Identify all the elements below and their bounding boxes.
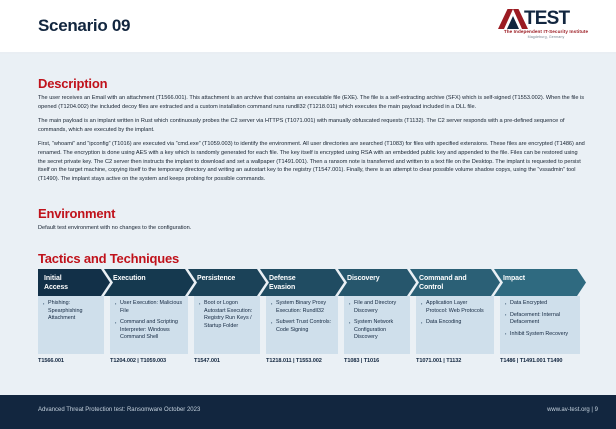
technique-item: Command and Scripting Interpreter: Windo… xyxy=(115,319,183,342)
page-footer: Advanced Threat Protection test: Ransomw… xyxy=(0,395,616,429)
tactic-label-line: Discovery xyxy=(347,274,410,283)
description-heading: Description xyxy=(38,76,107,91)
technique-item: Defacement: Internal Defacement xyxy=(505,312,575,327)
technique-card[interactable]: Data EncryptedDefacement: Internal Defac… xyxy=(500,296,580,354)
technique-list: User Execution: Malicious FileCommand an… xyxy=(115,300,183,342)
technique-list: File and Directory DiscoverySystem Netwo… xyxy=(349,300,405,342)
description-body: The user receives an Email with an attac… xyxy=(38,94,586,183)
tactic-label-line: Evasion xyxy=(269,283,338,292)
technique-item: Subvert Trust Controls: Code Signing xyxy=(271,319,333,334)
footer-test-name: Advanced Threat Protection test: Ransomw… xyxy=(38,407,200,413)
technique-list: System Binary Proxy Execution: Rundll32S… xyxy=(271,300,333,334)
tactic-chevron[interactable]: Discovery xyxy=(338,269,416,296)
technique-card[interactable]: User Execution: Malicious FileCommand an… xyxy=(110,296,188,354)
tactic-chevron[interactable]: Persistence xyxy=(188,269,266,296)
description-paragraph: The user receives an Email with an attac… xyxy=(38,94,586,111)
logo-subtitle: The Independent IT-Security Institute xyxy=(494,29,598,34)
slide-page: Scenario 09 TEST The Independent IT-Secu… xyxy=(0,0,616,429)
tactics-heading: Tactics and Techniques xyxy=(38,251,179,266)
technique-item: Phishing: Spearphishing Attachment xyxy=(43,300,99,323)
technique-card[interactable]: System Binary Proxy Execution: Rundll32S… xyxy=(266,296,338,354)
technique-list: Phishing: Spearphishing Attachment xyxy=(43,300,99,323)
av-test-logo: TEST The Independent IT-Security Institu… xyxy=(494,9,598,43)
tactic-label-line: Initial xyxy=(44,274,104,283)
technique-item: Inhibit System Recovery xyxy=(505,331,575,339)
technique-card[interactable]: Phishing: Spearphishing Attachment xyxy=(38,296,104,354)
logo-wordmark-text: TEST xyxy=(524,8,569,30)
technique-item: File and Directory Discovery xyxy=(349,300,405,315)
tactic-chevron[interactable]: DefenseEvasion xyxy=(260,269,344,296)
tactic-label-line: Control xyxy=(419,283,494,292)
technique-card[interactable]: File and Directory DiscoverySystem Netwo… xyxy=(344,296,410,354)
technique-ids: T1547.001 xyxy=(194,357,264,365)
technique-card[interactable]: Application Layer Protocol: Web Protocol… xyxy=(416,296,494,354)
tactic-label-line: Access xyxy=(44,283,104,292)
technique-ids: T1218.011 | T1553.002 xyxy=(266,357,342,365)
tactic-chevron[interactable]: InitialAccess xyxy=(38,269,110,296)
tactic-label-line: Persistence xyxy=(197,274,260,283)
technique-ids: T1071.001 | T1132 xyxy=(416,357,498,365)
tactic-chevron[interactable]: Command andControl xyxy=(410,269,500,296)
technique-item: Boot or Logon Autostart Execution: Regis… xyxy=(199,300,255,330)
technique-ids: T1083 | T1016 xyxy=(344,357,414,365)
tactic-chevron[interactable]: Execution xyxy=(104,269,194,296)
footer-url-page: www.av-test.org | 9 xyxy=(547,407,598,413)
technique-item: System Network Configuration Discovery xyxy=(349,319,405,342)
page-header: Scenario 09 TEST The Independent IT-Secu… xyxy=(0,0,616,54)
technique-ids: T1566.001 xyxy=(38,357,106,365)
technique-ids: T1204.002 | T1059.003 xyxy=(110,357,192,365)
tactic-label-line: Impact xyxy=(503,274,580,283)
technique-item: User Execution: Malicious File xyxy=(115,300,183,315)
technique-list: Boot or Logon Autostart Execution: Regis… xyxy=(199,300,255,330)
description-paragraph: The main payload is an implant written i… xyxy=(38,117,586,134)
technique-ids-row: T1566.001T1204.002 | T1059.003T1547.001T… xyxy=(38,354,586,376)
content-band: Description The user receives an Email w… xyxy=(0,54,616,395)
tactic-chevron-row: InitialAccessExecutionPersistenceDefense… xyxy=(38,269,586,296)
tactics-matrix: InitialAccessExecutionPersistenceDefense… xyxy=(38,269,586,376)
tactic-label-line: Defense xyxy=(269,274,338,283)
technique-ids: T1486 | T1491.001 T1490 xyxy=(500,357,584,365)
technique-item: System Binary Proxy Execution: Rundll32 xyxy=(271,300,333,315)
technique-card[interactable]: Boot or Logon Autostart Execution: Regis… xyxy=(194,296,260,354)
technique-item: Data Encrypted xyxy=(505,300,575,308)
technique-item: Application Layer Protocol: Web Protocol… xyxy=(421,300,489,315)
environment-body: Default test environment with no changes… xyxy=(38,224,586,233)
tactic-chevron[interactable]: Impact xyxy=(494,269,586,296)
logo-location: Magdeburg, Germany xyxy=(494,35,598,39)
logo-wordmark-group: TEST xyxy=(494,9,598,29)
technique-cards-row: Phishing: Spearphishing AttachmentUser E… xyxy=(38,296,586,354)
description-paragraph: First, “whoami” and “ipconfig” (T1016) a… xyxy=(38,140,586,183)
technique-list: Application Layer Protocol: Web Protocol… xyxy=(421,300,489,327)
environment-heading: Environment xyxy=(38,206,115,221)
tactic-label-line: Execution xyxy=(113,274,188,283)
page-title: Scenario 09 xyxy=(38,16,130,36)
tactic-label-line: Command and xyxy=(419,274,494,283)
environment-text: Default test environment with no changes… xyxy=(38,224,586,233)
technique-list: Data EncryptedDefacement: Internal Defac… xyxy=(505,300,575,338)
technique-item: Data Encoding xyxy=(421,319,489,327)
